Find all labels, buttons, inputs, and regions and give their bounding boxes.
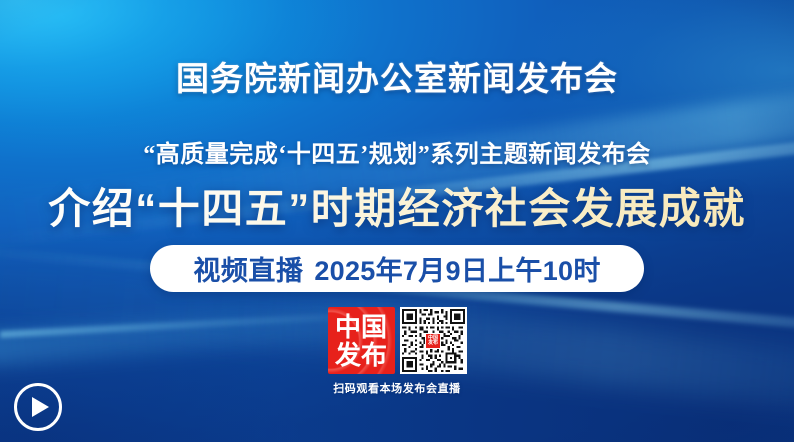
live-broadcast-datetime: 2025年7月9日上午10时 [314,249,600,288]
brand-logo-line-2: 发布 [335,342,387,368]
headline: 介绍“十四五”时期经济社会发展成就 [0,184,794,234]
qr-block: 中国 发布 [323,307,471,396]
brand-logo-line-1: 中国 [335,314,387,340]
qr-code[interactable]: 中国 发布 [400,307,467,374]
poster-content: 国务院新闻办公室新闻发布会 “高质量完成‘十四五’规划”系列主题新闻发布会 介绍… [0,0,794,442]
qr-code-canvas: 中国 发布 [402,309,465,372]
qr-center-line-2: 发布 [428,341,438,346]
series-subtitle: “高质量完成‘十四五’规划”系列主题新闻发布会 [0,140,794,170]
brand-logo: 中国 发布 [328,307,395,374]
qr-caption: 扫码观看本场发布会直播 [323,380,471,396]
qr-center-logo: 中国 发布 [425,333,441,349]
play-button[interactable] [14,383,62,431]
live-broadcast-badge: 视频直播 2025年7月9日上午10时 [150,245,644,292]
main-title: 国务院新闻办公室新闻发布会 [0,60,794,100]
live-broadcast-label: 视频直播 [193,249,303,288]
video-poster: 国务院新闻办公室新闻发布会 “高质量完成‘十四五’规划”系列主题新闻发布会 介绍… [0,0,794,442]
qr-row: 中国 发布 [323,307,471,374]
play-icon [32,397,49,417]
